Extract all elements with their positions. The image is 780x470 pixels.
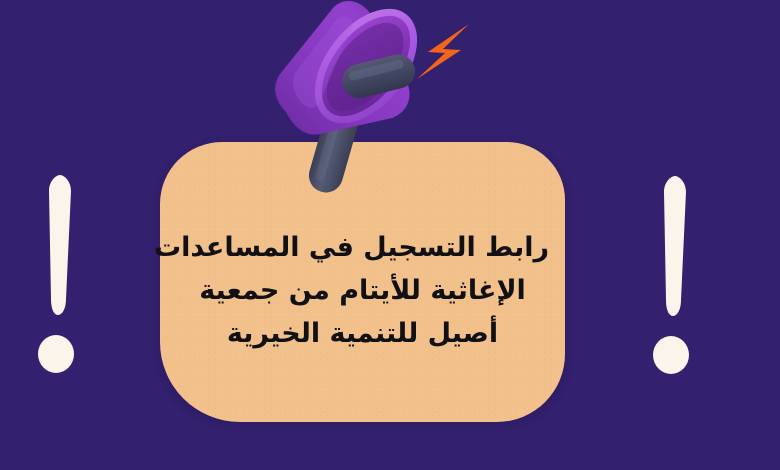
exclamation-mark-right [645,176,705,396]
exclamation-right-icon [645,176,705,396]
lightning-bolt-graphic [412,22,474,82]
headline-line-2: الإغاثية للأيتام من جمعية [176,269,549,312]
announcement-banner: رابط التسجيل في المساعدات الإغاثية للأيت… [0,0,780,470]
lightning-bolt-icon [412,22,474,82]
announcement-headline: رابط التسجيل في المساعدات الإغاثية للأيت… [160,226,565,355]
exclamation-mark-left [30,175,90,395]
headline-line-1: رابط التسجيل في المساعدات [176,226,549,269]
exclamation-left-icon [30,175,90,395]
headline-line-3: أصيل للتنمية الخيرية [176,312,549,355]
